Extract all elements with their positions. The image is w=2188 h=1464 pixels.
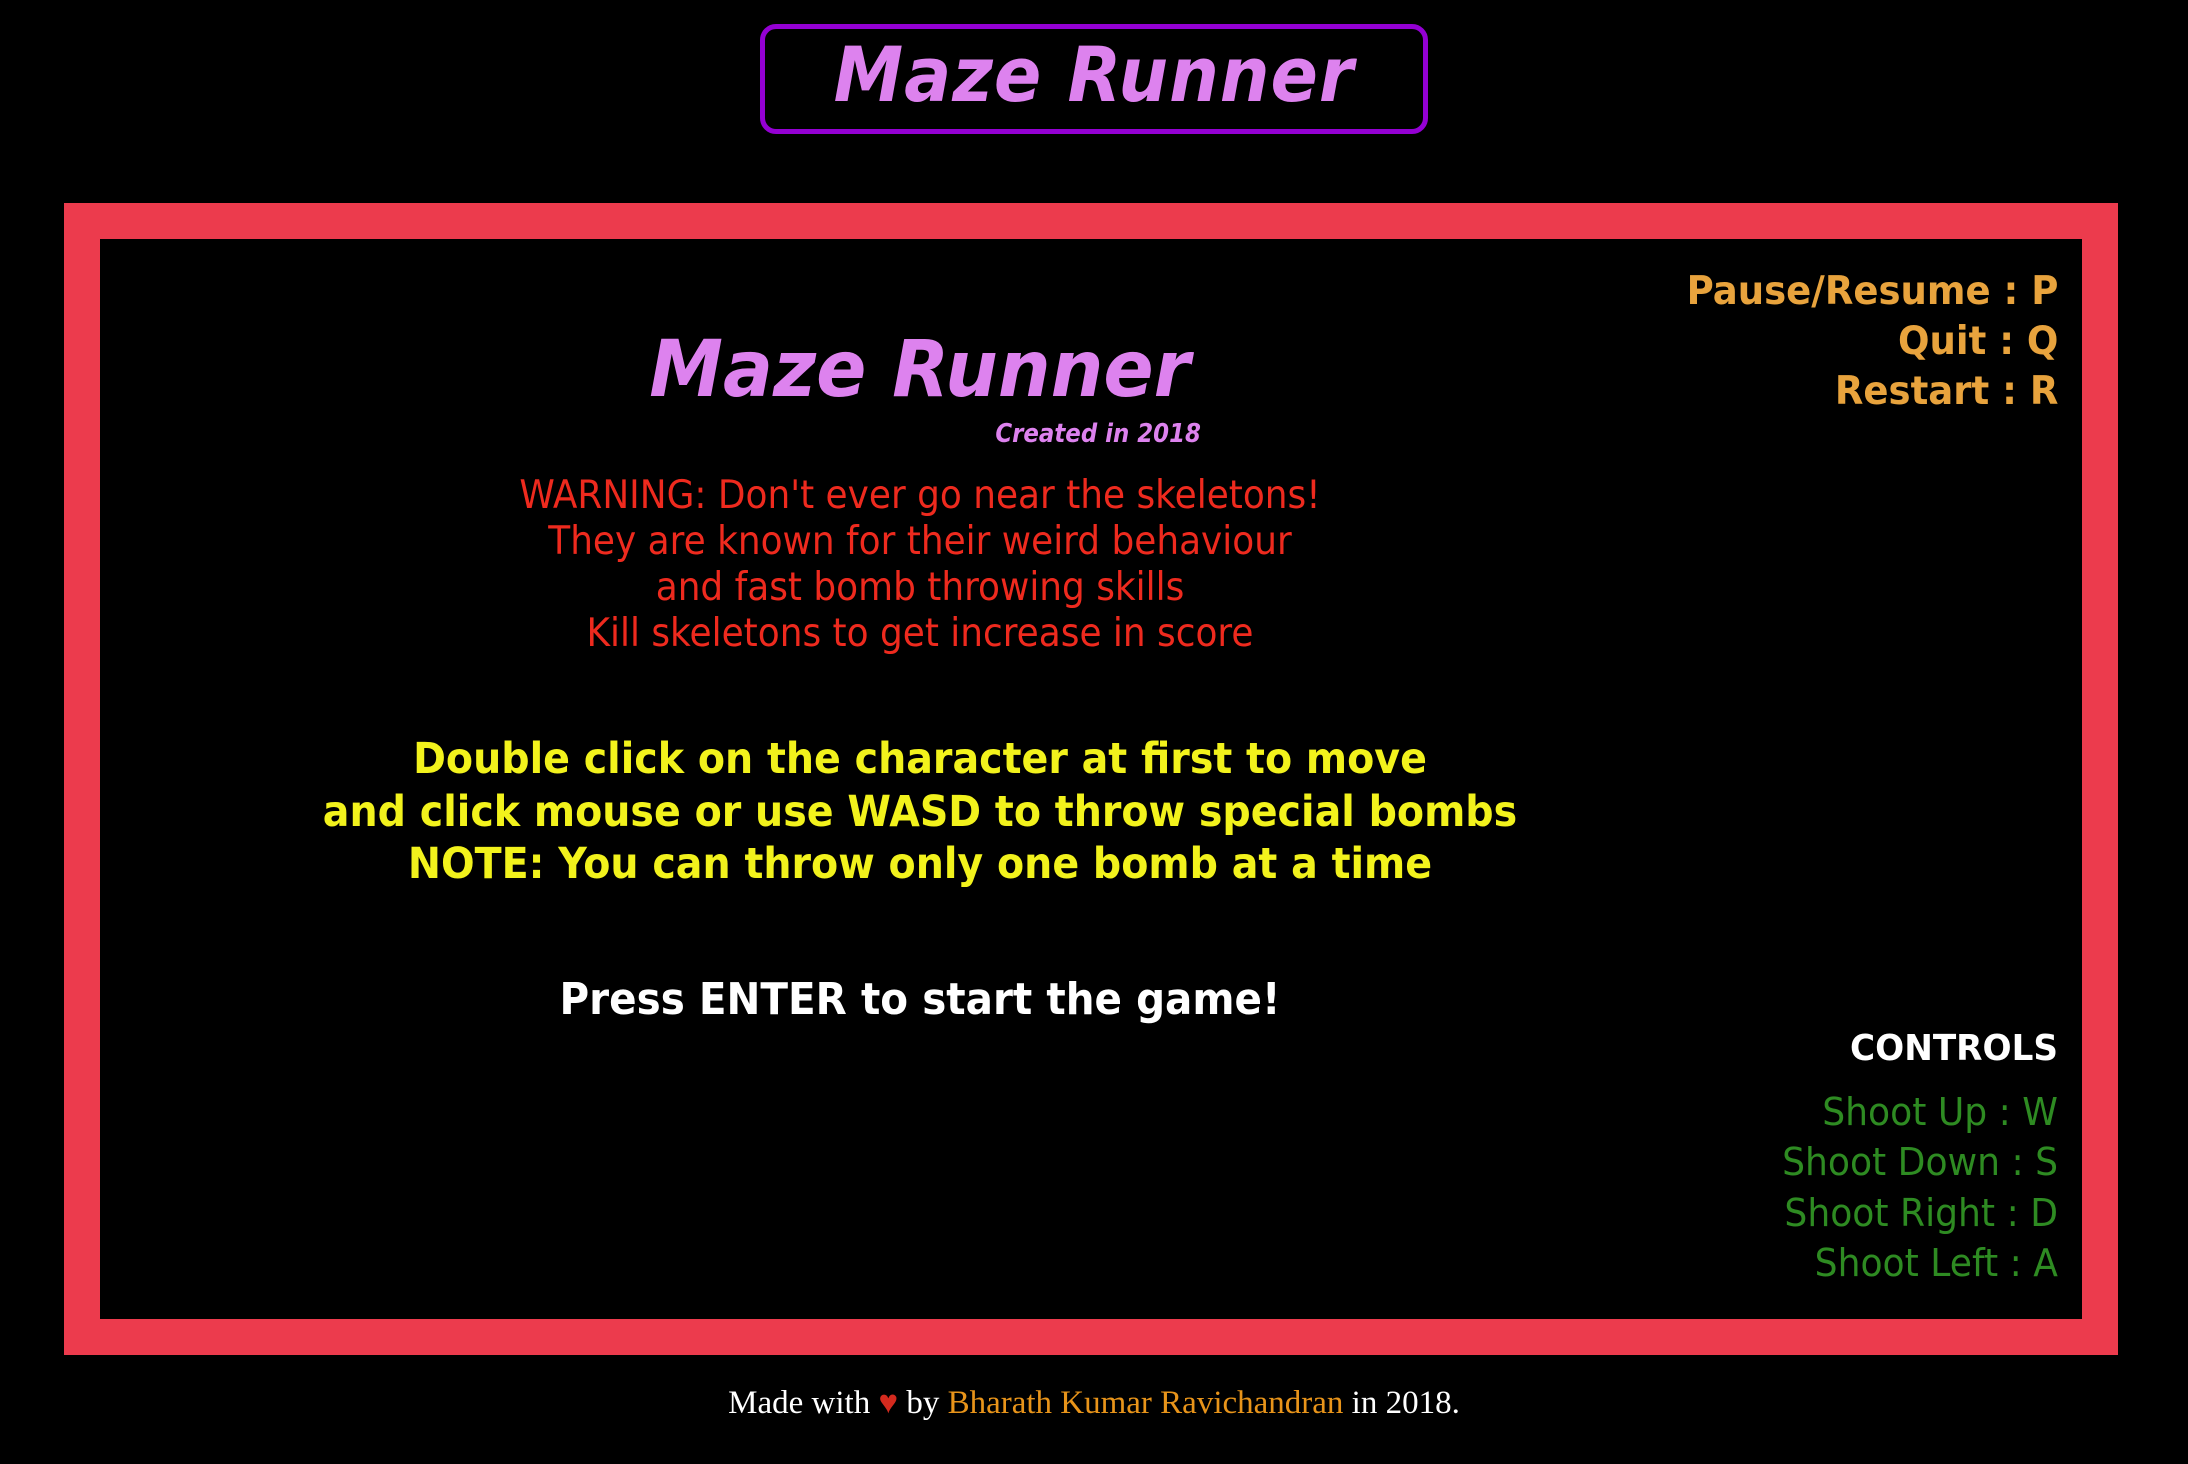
footer-suffix: in 2018. <box>1343 1385 1459 1421</box>
warning-line-2: They are known for their weird behaviour <box>166 519 1675 565</box>
page-title: Maze Runner <box>834 37 1355 113</box>
control-shoot-left: Shoot Left : A <box>1659 1238 2058 1289</box>
control-shoot-up: Shoot Up : W <box>1659 1087 2058 1138</box>
game-canvas[interactable]: Pause/Resume : P Quit : Q Restart : R Ma… <box>100 239 2082 1319</box>
controls-legend-heading: CONTROLS <box>1659 1026 2058 1073</box>
footer-prefix: Made with <box>728 1385 878 1421</box>
game-subtitle: Created in 2018 <box>704 419 1205 449</box>
page-header: Maze Runner <box>0 0 2188 150</box>
instructions-block: Double click on the character at first t… <box>100 733 1740 890</box>
page-footer: Made with ♥ by Bharath Kumar Ravichandra… <box>0 1385 2188 1422</box>
instruction-line-2: and click mouse or use WASD to throw spe… <box>166 786 1675 838</box>
control-shoot-down: Shoot Down : S <box>1659 1137 2058 1188</box>
meta-control-restart: Restart : R <box>1686 367 2058 417</box>
game-title: Maze Runner <box>650 331 1191 409</box>
control-shoot-right: Shoot Right : D <box>1659 1188 2058 1239</box>
heart-icon: ♥ <box>878 1385 898 1421</box>
meta-control-pause-resume: Pause/Resume : P <box>1686 267 2058 317</box>
start-game-prompt[interactable]: Press ENTER to start the game! <box>166 974 1675 1025</box>
controls-legend-panel: CONTROLS Shoot Up : W Shoot Down : S Sho… <box>1638 1026 2058 1289</box>
warning-line-3: and fast bomb throwing skills <box>166 565 1675 611</box>
instruction-line-3: NOTE: You can throw only one bomb at a t… <box>166 838 1675 890</box>
splash-content: Maze Runner Created in 2018 WARNING: Don… <box>100 239 1740 1025</box>
game-title-group: Maze Runner Created in 2018 <box>635 331 1204 449</box>
footer-middle: by <box>898 1385 948 1421</box>
warning-block: WARNING: Don't ever go near the skeleton… <box>100 473 1740 657</box>
instruction-line-1: Double click on the character at first t… <box>166 733 1675 785</box>
footer-author-link[interactable]: Bharath Kumar Ravichandran <box>948 1385 1344 1421</box>
page-title-plate: Maze Runner <box>760 24 1428 134</box>
warning-line-4: Kill skeletons to get increase in score <box>166 611 1675 657</box>
warning-line-1: WARNING: Don't ever go near the skeleton… <box>166 473 1675 519</box>
meta-control-quit: Quit : Q <box>1686 317 2058 367</box>
game-frame-border: Pause/Resume : P Quit : Q Restart : R Ma… <box>64 203 2118 1355</box>
